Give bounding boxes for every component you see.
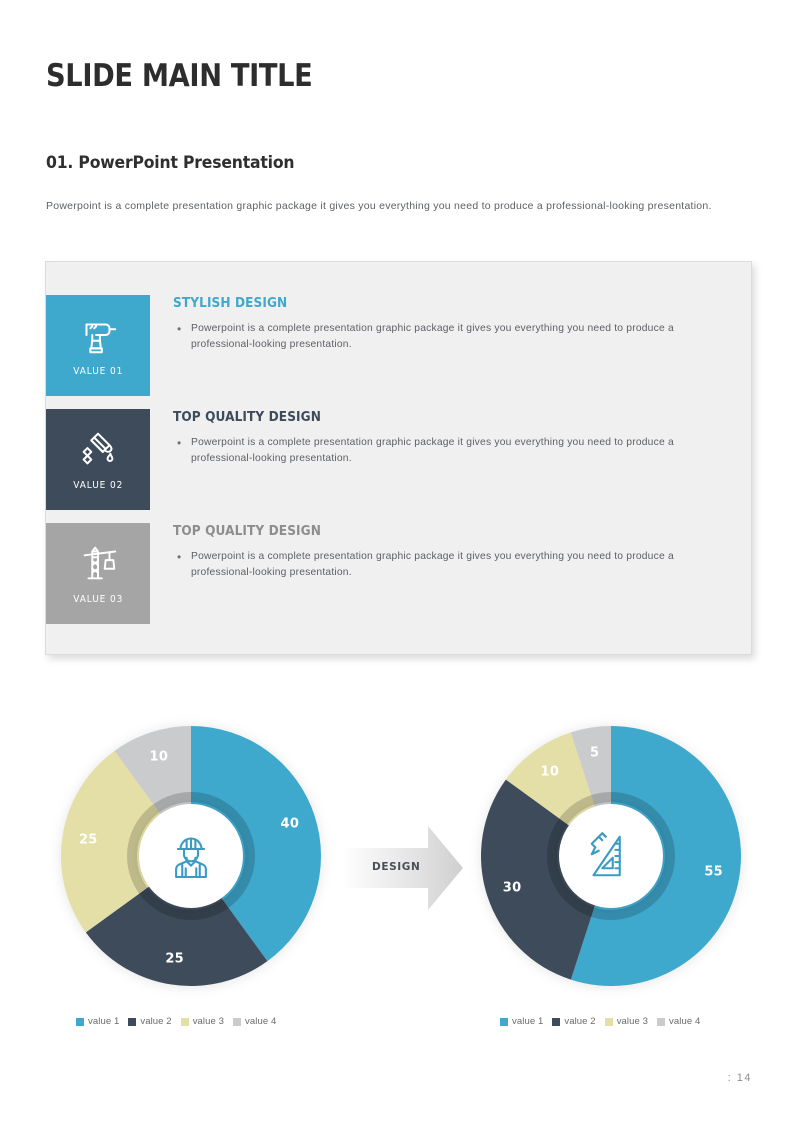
legend-label: value 3 [617,1016,648,1027]
legend-item[interactable]: value 4 [657,1016,700,1027]
bullet-dot-icon: • [173,435,191,451]
value-card-02[interactable]: VALUE 02 [46,409,150,510]
legend-item[interactable]: value 4 [233,1016,276,1027]
slice-value-label: 25 [165,951,184,966]
slice-value-label: 5 [590,746,599,761]
legend-label: value 1 [512,1016,543,1027]
legend-label: value 2 [564,1016,595,1027]
donut-chart-left: 40 25 25 10 [57,722,325,990]
design-arrow: DESIGN [342,824,464,912]
value-card-03[interactable]: VALUE 03 [46,523,150,624]
donut-center-left [139,804,243,908]
legend-item[interactable]: value 1 [500,1016,543,1027]
value-bullet: • Powerpoint is a complete presentation … [173,435,735,467]
page-title: SLIDE MAIN TITLE [46,58,312,94]
slice-value-label: 25 [79,832,98,847]
value-row: VALUE 03 TOP QUALITY DESIGN • Powerpoint… [46,523,751,637]
legend-swatch-yellow [181,1018,189,1026]
legend-swatch-blue [76,1018,84,1026]
legend-label: value 2 [140,1016,171,1027]
value-card-label: VALUE 03 [73,594,123,605]
legend-item[interactable]: value 2 [128,1016,171,1027]
legend-right: value 1 value 2 value 3 value 4 [500,1016,700,1027]
donut-chart-right: 55 30 10 5 [477,722,745,990]
value-row: VALUE 01 STYLISH DESIGN • Powerpoint is … [46,295,751,409]
legend-left: value 1 value 2 value 3 value 4 [76,1016,276,1027]
legend-swatch-blue [500,1018,508,1026]
arrow-label: DESIGN [372,861,420,873]
legend-item[interactable]: value 2 [552,1016,595,1027]
legend-swatch-grey [657,1018,665,1026]
value-body: TOP QUALITY DESIGN • Powerpoint is a com… [173,409,735,467]
legend-item[interactable]: value 1 [76,1016,119,1027]
value-bullet-text: Powerpoint is a complete presentation gr… [191,321,718,353]
values-panel: VALUE 01 STYLISH DESIGN • Powerpoint is … [45,261,752,655]
legend-label: value 4 [669,1016,700,1027]
value-card-01[interactable]: VALUE 01 [46,295,150,396]
power-drill-icon [75,312,121,358]
slide-canvas: SLIDE MAIN TITLE 01. PowerPoint Presenta… [0,0,794,1123]
slice-value-label: 55 [704,865,723,880]
value-card-label: VALUE 01 [73,366,123,377]
construction-crane-icon [75,540,121,586]
legend-swatch-yellow [605,1018,613,1026]
section-description: Powerpoint is a complete presentation gr… [46,198,752,215]
legend-item[interactable]: value 3 [181,1016,224,1027]
legend-swatch-navy [552,1018,560,1026]
value-heading: STYLISH DESIGN [173,295,679,311]
value-row: VALUE 02 TOP QUALITY DESIGN • Powerpoint… [46,409,751,523]
construction-worker-icon [163,828,219,884]
bullet-dot-icon: • [173,321,191,337]
legend-label: value 3 [193,1016,224,1027]
value-bullet-text: Powerpoint is a complete presentation gr… [191,435,718,467]
bullet-dot-icon: • [173,549,191,565]
slice-value-label: 40 [281,816,300,831]
legend-item[interactable]: value 3 [605,1016,648,1027]
legend-label: value 4 [245,1016,276,1027]
section-title: 01. PowerPoint Presentation [46,153,294,173]
value-body: STYLISH DESIGN • Powerpoint is a complet… [173,295,735,353]
value-heading: TOP QUALITY DESIGN [173,409,679,425]
slice-value-label: 30 [503,881,522,896]
slice-value-label: 10 [150,750,169,765]
paint-brush-icon [75,426,121,472]
value-bullet: • Powerpoint is a complete presentation … [173,321,735,353]
value-body: TOP QUALITY DESIGN • Powerpoint is a com… [173,523,735,581]
donut-center-right [559,804,663,908]
page-number: : 14 [728,1072,752,1084]
legend-label: value 1 [88,1016,119,1027]
slice-value-label: 10 [541,764,560,779]
value-bullet: • Powerpoint is a complete presentation … [173,549,735,581]
legend-swatch-navy [128,1018,136,1026]
value-bullet-text: Powerpoint is a complete presentation gr… [191,549,718,581]
legend-swatch-grey [233,1018,241,1026]
ruler-pencil-icon [583,828,639,884]
value-card-label: VALUE 02 [73,480,123,491]
value-heading: TOP QUALITY DESIGN [173,523,679,539]
